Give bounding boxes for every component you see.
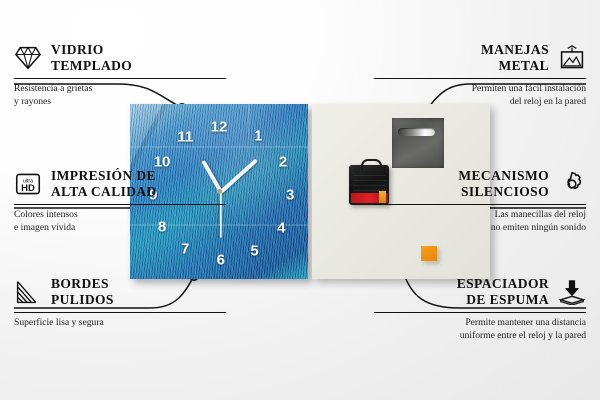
feature-desc-line2: uniforme entre el reloj y la pared — [374, 330, 586, 343]
gear-icon — [558, 171, 586, 197]
clock-numeral-11: 11 — [177, 129, 193, 146]
feature-title: MECANISMO SILENCIOSO — [458, 168, 549, 200]
clock-numeral-12: 12 — [211, 118, 228, 135]
feature-title-line1: MECANISMO — [458, 168, 549, 184]
clock-numeral-2: 2 — [279, 153, 287, 170]
feature-title: IMPRESIÓN DE ALTA CALIDAD — [51, 168, 157, 200]
feature-espaciador-de-espuma: ESPACIADOR DE ESPUMA Permite mantener un… — [374, 276, 586, 343]
feature-desc-line1: Permiten una fácil instalación — [374, 83, 586, 96]
feature-header: MANEJAS METAL — [374, 42, 586, 78]
feature-title-line1: IMPRESIÓN DE — [51, 168, 157, 184]
feature-title-line2: SILENCIOSO — [458, 184, 549, 200]
feature-desc-line1: Resistencia a grietas — [14, 83, 226, 96]
feature-description: Resistencia a grietas y rayones — [14, 79, 226, 109]
feature-desc-line2: y rayones — [14, 96, 226, 109]
feature-desc-line1: Superficie lisa y segura — [14, 317, 226, 330]
feature-vidrio-templado: VIDRIO TEMPLADO Resistencia a grietas y … — [14, 42, 226, 109]
feature-header: MECANISMO SILENCIOSO — [374, 168, 586, 204]
feature-header: ultra HD IMPRESIÓN DE ALTA CALIDAD — [14, 168, 226, 204]
clock-numeral-6: 6 — [217, 251, 225, 268]
feature-title-line1: ESPACIADOR — [457, 276, 549, 292]
infographic-canvas: 12 1 2 3 4 5 6 7 8 9 10 11 — [0, 0, 600, 400]
feature-title-line1: VIDRIO — [51, 42, 132, 58]
clock-numeral-1: 1 — [254, 127, 262, 144]
polished-edge-icon — [14, 279, 42, 305]
feature-bordes-pulidos: BORDES PULIDOS Superficie lisa y segura — [14, 276, 226, 330]
feature-mecanismo-silencioso: MECANISMO SILENCIOSO Las manecillas del … — [374, 168, 586, 235]
feature-title: ESPACIADOR DE ESPUMA — [457, 276, 549, 308]
feature-description: Permite mantener una distancia uniforme … — [374, 313, 586, 343]
feature-desc-line1: Colores intensos — [14, 209, 226, 222]
feature-title-line2: ALTA CALIDAD — [51, 184, 157, 200]
feature-title-line2: PULIDOS — [51, 292, 114, 308]
ultra-hd-icon: ultra HD — [14, 171, 42, 197]
feature-title: BORDES PULIDOS — [51, 276, 114, 308]
feature-description: Superficie lisa y segura — [14, 313, 226, 330]
feature-title-line1: BORDES — [51, 276, 114, 292]
feature-header: VIDRIO TEMPLADO — [14, 42, 226, 78]
hanger-keyhole-slot — [398, 128, 434, 136]
feature-title-line2: DE ESPUMA — [457, 292, 549, 308]
metal-hanger-plate — [392, 118, 444, 168]
feature-description: Colores intensos e imagen vívida — [14, 205, 226, 235]
feature-impresion-alta-calidad: ultra HD IMPRESIÓN DE ALTA CALIDAD Color… — [14, 168, 226, 235]
feature-header: BORDES PULIDOS — [14, 276, 226, 312]
feature-desc-line1: Permite mantener una distancia — [374, 317, 586, 330]
feature-desc-line2: no emiten ningún sonido — [374, 222, 586, 235]
feature-header: ESPACIADOR DE ESPUMA — [374, 276, 586, 312]
foam-spacer-pad — [421, 246, 437, 261]
feature-title: MANEJAS METAL — [481, 42, 549, 74]
ultra-hd-icon-label-bottom: HD — [21, 183, 35, 194]
wall-hanger-icon — [558, 45, 586, 71]
feature-description: Permiten una fácil instalación del reloj… — [374, 79, 586, 109]
diamond-icon — [14, 45, 42, 71]
feature-manejas-metal: MANEJAS METAL Permiten una fácil instala… — [374, 42, 586, 109]
feature-desc-line2: del reloj en la pared — [374, 96, 586, 109]
feature-title-line1: MANEJAS — [481, 42, 549, 58]
clock-numeral-3: 3 — [286, 187, 294, 204]
clock-numeral-4: 4 — [277, 220, 285, 237]
foam-spacer-icon — [558, 279, 586, 305]
feature-title-line2: TEMPLADO — [51, 58, 132, 74]
feature-title: VIDRIO TEMPLADO — [51, 42, 132, 74]
feature-desc-line1: Las manecillas del reloj — [374, 209, 586, 222]
clock-numeral-7: 7 — [181, 241, 189, 258]
feature-description: Las manecillas del reloj no emiten ningú… — [374, 205, 586, 235]
clock-numeral-5: 5 — [250, 243, 258, 260]
feature-desc-line2: e imagen vívida — [14, 222, 226, 235]
feature-title-line2: METAL — [481, 58, 549, 74]
